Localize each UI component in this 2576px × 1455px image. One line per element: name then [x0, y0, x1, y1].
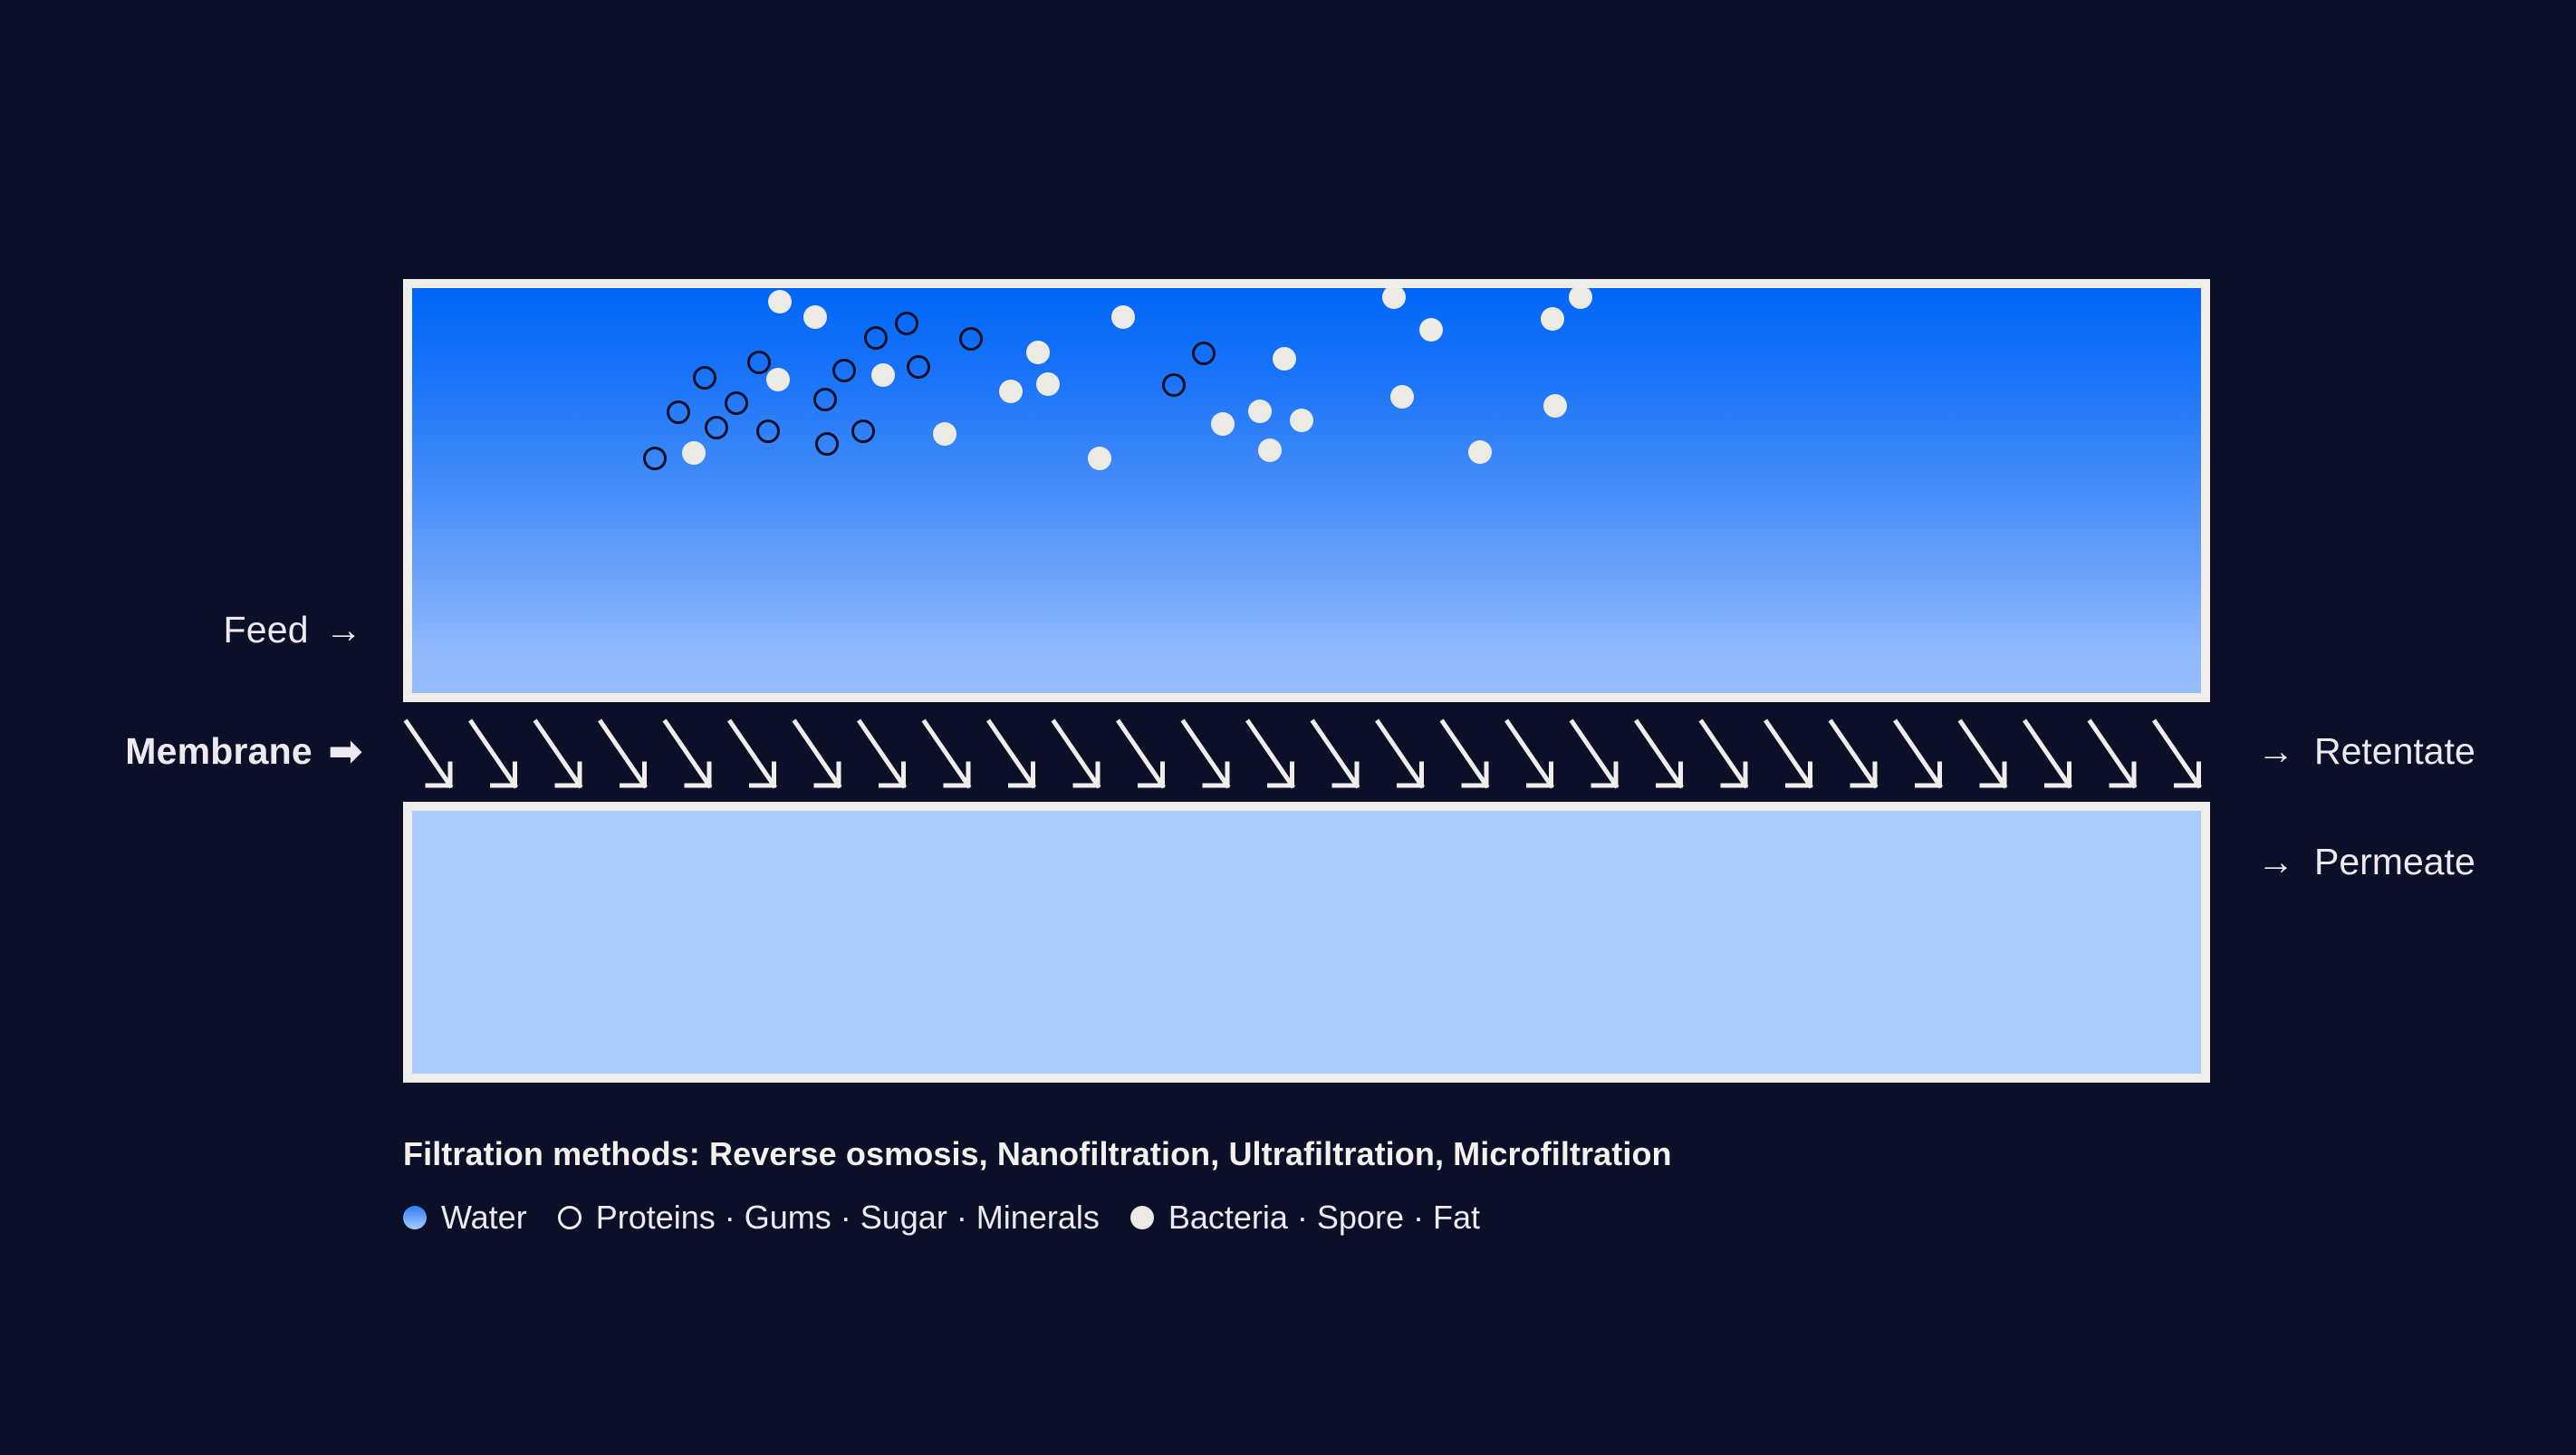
permeate-region — [403, 802, 2210, 1083]
particle-protein — [747, 351, 771, 374]
particle-protein — [693, 366, 716, 390]
particle-protein — [815, 432, 839, 456]
particle-bacteria — [871, 363, 895, 387]
particle-bacteria — [1088, 447, 1111, 470]
particle-protein — [864, 326, 888, 350]
particle-bacteria — [1258, 438, 1282, 462]
arrow-right-icon: → — [2257, 843, 2294, 881]
water-dot-icon — [403, 1206, 427, 1229]
membrane-label-text: Membrane — [125, 730, 312, 773]
arrow-right-icon: → — [2257, 733, 2294, 770]
legend: Water Proteins · Gums · Sugar · Minerals… — [403, 1199, 1480, 1237]
membrane-region — [396, 702, 2216, 802]
particle-bacteria — [768, 290, 792, 313]
legend-item-water: Water — [403, 1199, 527, 1237]
particle-protein — [832, 359, 856, 382]
caption-text: Filtration methods: Reverse osmosis, Nan… — [403, 1135, 1672, 1173]
permeate-region-fill — [412, 811, 2201, 1074]
feed-region-fill — [412, 288, 2201, 693]
particle-bacteria — [766, 368, 790, 391]
feed-label-text: Feed — [224, 609, 309, 651]
particle-bacteria — [1111, 305, 1135, 329]
particle-protein — [895, 312, 918, 335]
particle-bacteria — [1543, 394, 1567, 418]
particle-protein — [959, 327, 983, 351]
hollow-circle-icon — [558, 1206, 582, 1229]
particle-bacteria — [1390, 385, 1414, 409]
particle-bacteria — [1273, 347, 1296, 371]
arrow-right-icon: → — [325, 612, 362, 649]
particle-protein — [907, 355, 930, 379]
particle-protein — [643, 447, 667, 470]
legend-label-bacteria: Bacteria · Spore · Fat — [1168, 1199, 1480, 1237]
membrane-label: Membrane ➡ — [125, 730, 362, 773]
particle-bacteria — [1290, 409, 1313, 432]
particle-bacteria — [682, 441, 706, 465]
particle-bacteria — [1569, 288, 1592, 309]
particle-bacteria — [999, 380, 1023, 403]
feed-label: Feed → — [224, 609, 362, 651]
particle-bacteria — [1248, 400, 1272, 423]
particle-bacteria — [1419, 318, 1443, 342]
retentate-label-text: Retentate — [2314, 730, 2475, 773]
particle-bacteria — [1036, 372, 1060, 396]
legend-label-proteins: Proteins · Gums · Sugar · Minerals — [596, 1199, 1100, 1237]
particle-protein — [667, 400, 690, 424]
particle-bacteria — [1211, 412, 1235, 436]
permeate-label: → Permeate — [2257, 841, 2475, 883]
membrane-arrows — [396, 702, 2216, 802]
particle-protein — [1162, 373, 1186, 397]
feed-region — [403, 279, 2210, 702]
particle-bacteria — [1382, 288, 1406, 309]
particle-protein — [1192, 342, 1216, 365]
membrane-arrow-group — [407, 722, 2199, 785]
particle-bacteria — [1541, 307, 1564, 331]
solid-circle-icon — [1130, 1206, 1154, 1229]
legend-item-bacteria: Bacteria · Spore · Fat — [1130, 1199, 1480, 1237]
particle-protein — [851, 419, 875, 443]
particle-protein — [756, 419, 780, 443]
permeate-label-text: Permeate — [2314, 841, 2475, 883]
particle-protein — [705, 416, 728, 439]
legend-item-proteins: Proteins · Gums · Sugar · Minerals — [558, 1199, 1100, 1237]
particle-bacteria — [933, 422, 956, 446]
particle-bacteria — [1468, 440, 1492, 464]
particle-bacteria — [803, 305, 827, 329]
arrow-right-solid-icon: ➡ — [329, 732, 362, 772]
legend-label-water: Water — [441, 1199, 527, 1237]
diagram-canvas: Feed → Membrane ➡ → Retentate → Permeate… — [0, 0, 2576, 1455]
retentate-label: → Retentate — [2257, 730, 2475, 773]
particle-bacteria — [1026, 341, 1050, 364]
particle-protein — [813, 388, 837, 411]
particle-protein — [725, 391, 748, 415]
